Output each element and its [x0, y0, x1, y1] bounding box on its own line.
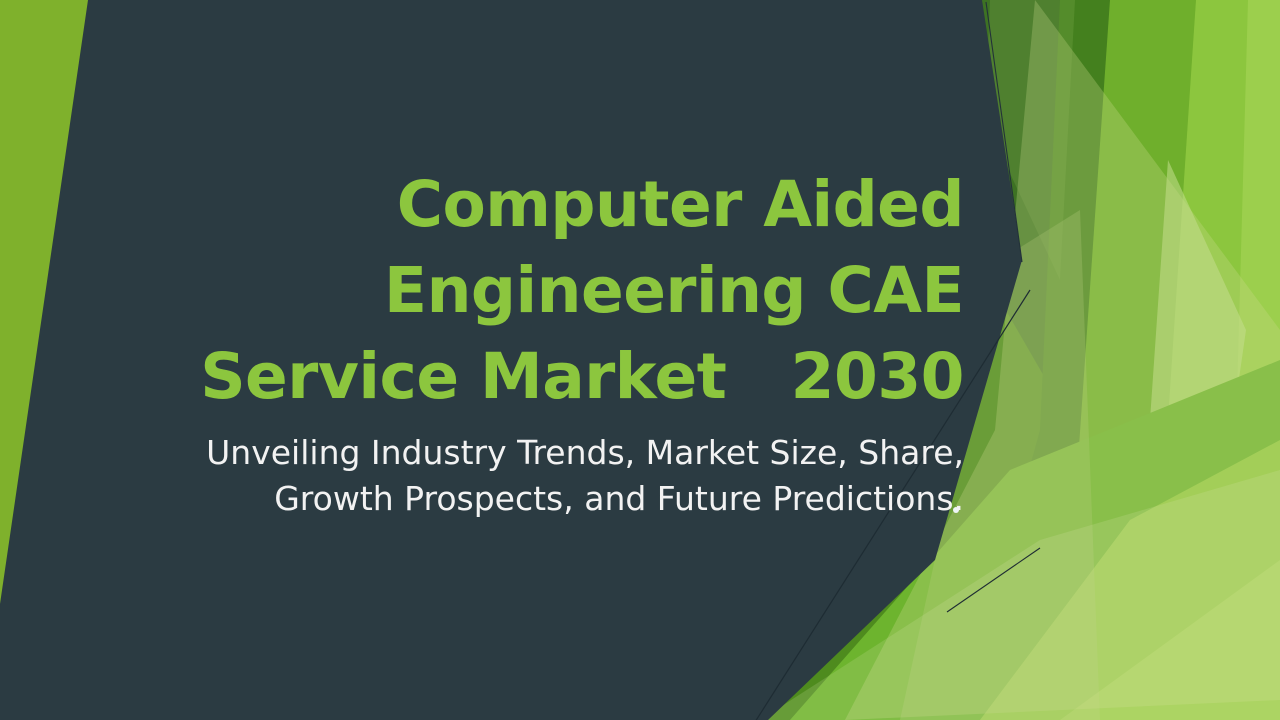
title-line-1: Computer Aided: [150, 162, 964, 248]
title-line-3: Service Market 2030: [150, 334, 964, 420]
slide-title: Computer Aided Engineering CAE Service M…: [150, 162, 964, 420]
subtitle-line-2: Growth Prospects, and Future Predictions…: [150, 476, 964, 522]
slide-subtitle: Unveiling Industry Trends, Market Size, …: [150, 430, 964, 522]
title-line-2: Engineering CAE: [150, 248, 964, 334]
slide-text-content: Computer Aided Engineering CAE Service M…: [0, 0, 1280, 720]
subtitle-line-1: Unveiling Industry Trends, Market Size, …: [150, 430, 964, 476]
presentation-title-slide: Computer Aided Engineering CAE Service M…: [0, 0, 1280, 720]
